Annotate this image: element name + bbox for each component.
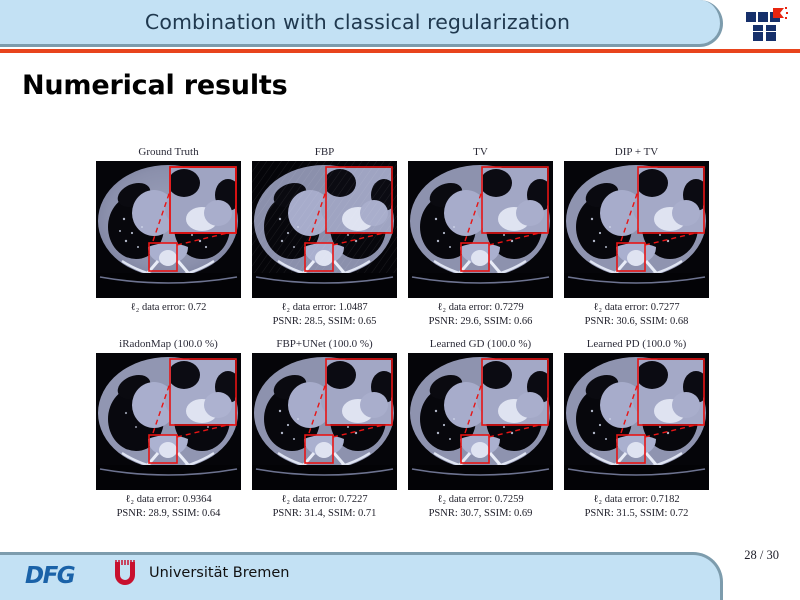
page-title: Numerical results [22, 70, 287, 101]
psnr-ssim-value: PSNR: 31.4, SSIM: 0.71 [273, 507, 377, 521]
figure-cell: FBP [252, 144, 397, 328]
university-bremen-brand: Universität Bremen [110, 558, 290, 588]
results-figure: Ground Truth [96, 144, 712, 520]
figure-cell-label: TV [473, 144, 488, 161]
data-error-value: ℓ₂ data error: 0.7227 [273, 493, 377, 507]
figure-cell-label: Ground Truth [138, 144, 198, 161]
footer-band [0, 552, 723, 600]
psnr-ssim-value: PSNR: 30.7, SSIM: 0.69 [429, 507, 533, 521]
figure-cell-label: FBP [315, 144, 335, 161]
page-number: 28 / 30 [744, 548, 779, 563]
ct-image-fbp [252, 161, 397, 298]
ct-image-dip-tv [564, 161, 709, 298]
figure-cell-metrics: ℓ₂ data error: 1.0487 PSNR: 28.5, SSIM: … [273, 301, 377, 328]
figure-cell-label: Learned PD (100.0 %) [587, 336, 687, 353]
figure-cell: iRadonMap (100.0 %) [96, 336, 241, 520]
psnr-ssim-value: PSNR: 31.5, SSIM: 0.72 [585, 507, 689, 521]
uni-bremen-grid-logo [745, 6, 791, 46]
ct-image-iradonmap [96, 353, 241, 490]
ct-image-learned-gd [408, 353, 553, 490]
data-error-value: ℓ₂ data error: 1.0487 [273, 301, 377, 315]
ct-image-ground-truth [96, 161, 241, 298]
figure-cell-metrics: ℓ₂ data error: 0.72 [131, 301, 207, 315]
figure-cell: TV [408, 144, 553, 328]
ct-image-learned-pd [564, 353, 709, 490]
figure-cell: DIP + TV [564, 144, 709, 328]
figure-cell-label: Learned GD (100.0 %) [430, 336, 531, 353]
psnr-ssim-value: PSNR: 29.6, SSIM: 0.66 [429, 315, 533, 329]
uni-bremen-u-logo [110, 558, 140, 588]
figure-cell-metrics: ℓ₂ data error: 0.7259 PSNR: 30.7, SSIM: … [429, 493, 533, 520]
figure-cell-metrics: ℓ₂ data error: 0.9364 PSNR: 28.9, SSIM: … [117, 493, 221, 520]
ct-image-tv [408, 161, 553, 298]
figure-cell-metrics: ℓ₂ data error: 0.7279 PSNR: 29.6, SSIM: … [429, 301, 533, 328]
psnr-ssim-value: PSNR: 28.5, SSIM: 0.65 [273, 315, 377, 329]
figure-cell: Learned GD (100.0 %) [408, 336, 553, 520]
university-label: Universität Bremen [149, 565, 290, 581]
data-error-value: ℓ₂ data error: 0.7182 [585, 493, 689, 507]
data-error-value: ℓ₂ data error: 0.72 [131, 301, 207, 315]
psnr-ssim-value: PSNR: 28.9, SSIM: 0.64 [117, 507, 221, 521]
data-error-value: ℓ₂ data error: 0.7259 [429, 493, 533, 507]
header-band: Combination with classical regularizatio… [0, 0, 723, 47]
header-accent-rule [0, 49, 800, 53]
figure-cell: Ground Truth [96, 144, 241, 328]
data-error-value: ℓ₂ data error: 0.7277 [585, 301, 689, 315]
slide: Combination with classical regularizatio… [0, 0, 800, 600]
figure-cell-metrics: ℓ₂ data error: 0.7277 PSNR: 30.6, SSIM: … [585, 301, 689, 328]
figure-cell: FBP+UNet (100.0 %) [252, 336, 397, 520]
figure-cell-metrics: ℓ₂ data error: 0.7227 PSNR: 31.4, SSIM: … [273, 493, 377, 520]
figure-cell-label: DIP + TV [615, 144, 658, 161]
figure-cell-label: FBP+UNet (100.0 %) [276, 336, 372, 353]
figure-cell-label: iRadonMap (100.0 %) [119, 336, 218, 353]
figure-cell: Learned PD (100.0 %) [564, 336, 709, 520]
data-error-value: ℓ₂ data error: 0.9364 [117, 493, 221, 507]
figure-row-1: Ground Truth [96, 144, 712, 328]
slide-header-title: Combination with classical regularizatio… [0, 0, 715, 44]
dfg-logo: DFG [25, 563, 74, 589]
ct-image-fbp-unet [252, 353, 397, 490]
data-error-value: ℓ₂ data error: 0.7279 [429, 301, 533, 315]
figure-cell-metrics: ℓ₂ data error: 0.7182 PSNR: 31.5, SSIM: … [585, 493, 689, 520]
figure-row-2: iRadonMap (100.0 %) [96, 336, 712, 520]
psnr-ssim-value: PSNR: 30.6, SSIM: 0.68 [585, 315, 689, 329]
